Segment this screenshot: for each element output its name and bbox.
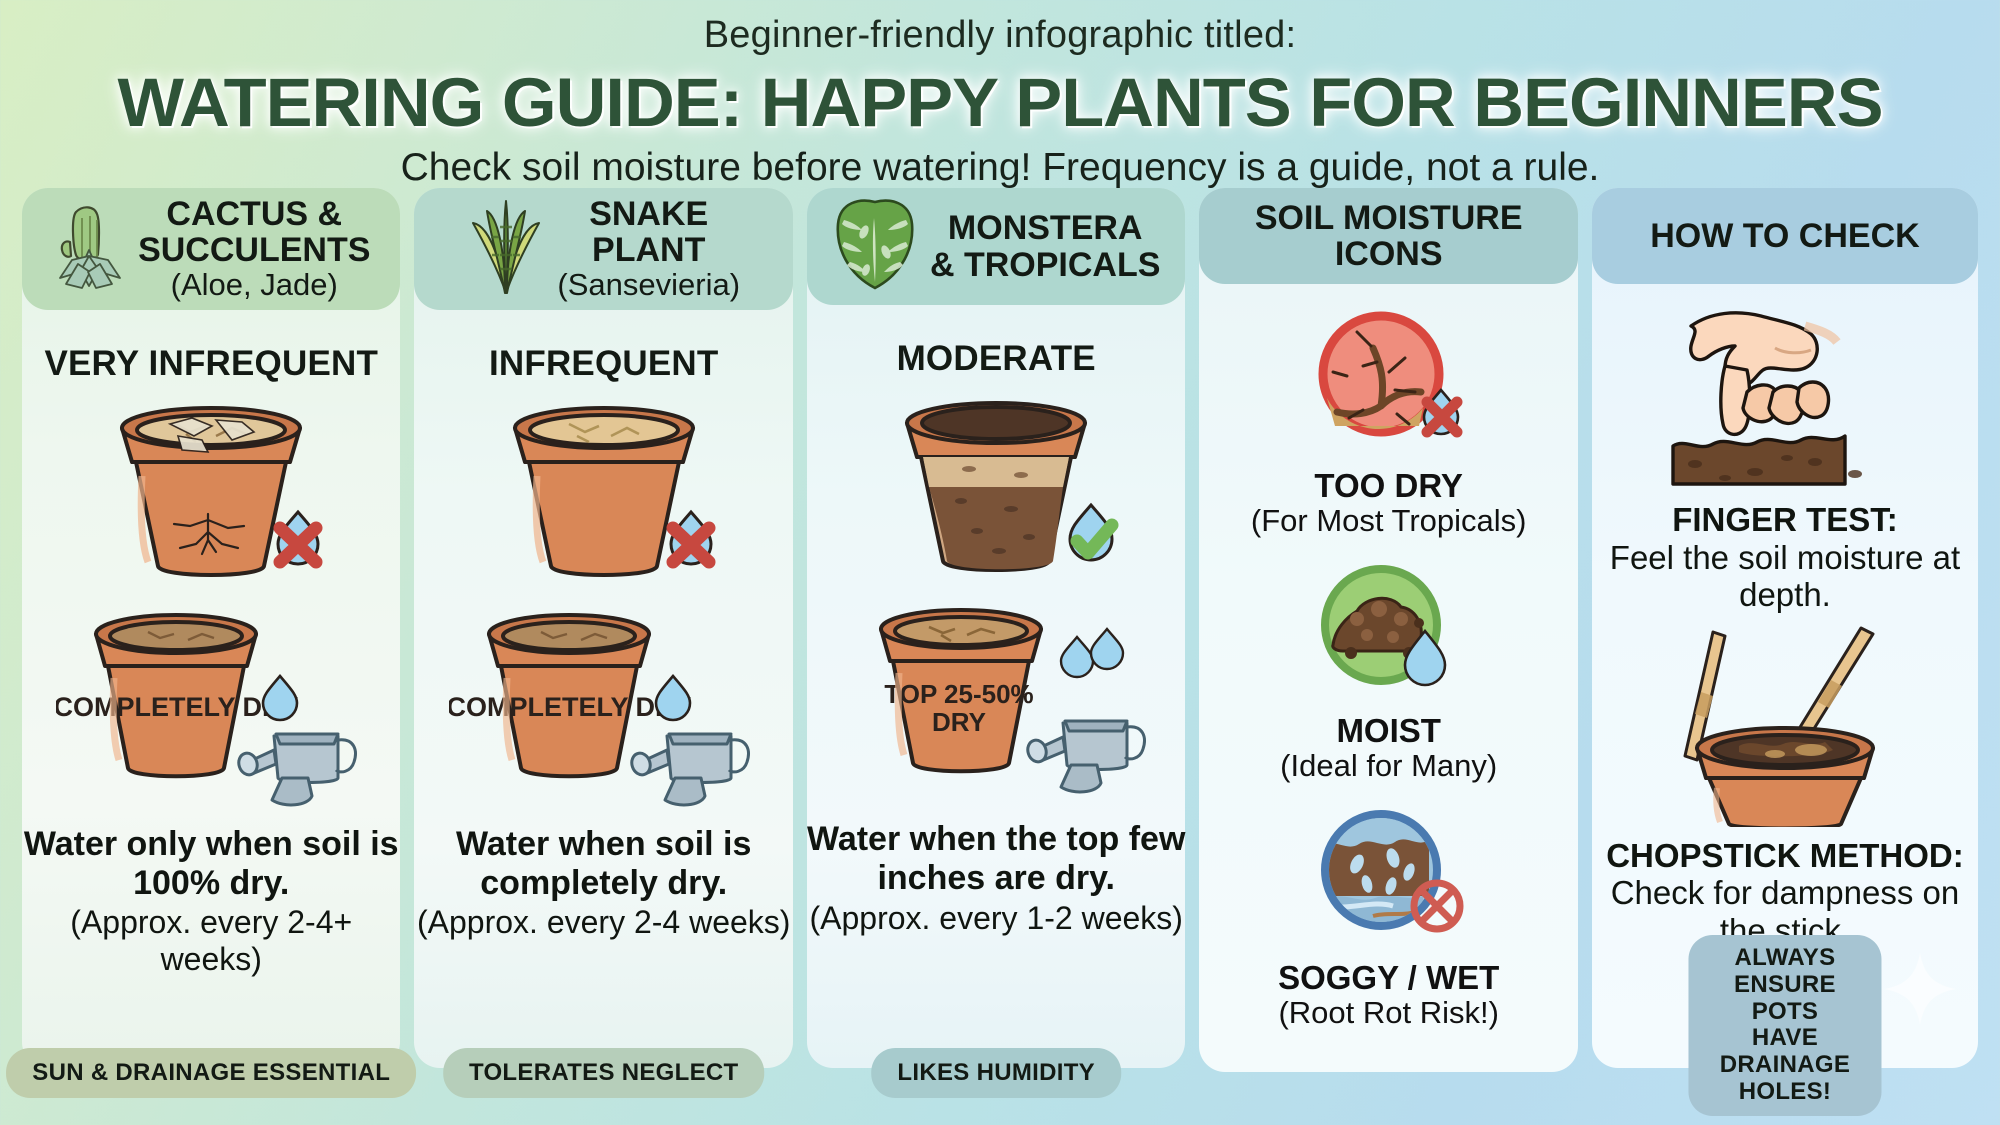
desc-approx: (Approx. every 1-2 weeks) (807, 900, 1185, 936)
pot-illustration-moist-layers (807, 391, 1185, 591)
card-title-line1: CACTUS & (166, 195, 342, 233)
card-header-text: SNAKE PLANT (Sansevieria) (557, 196, 740, 302)
card-title-line2: & TROPICALS (930, 246, 1160, 284)
watering-description: Water only when soil is 100% dry. (Appro… (22, 825, 400, 977)
card-soil-moisture-icons[interactable]: SOIL MOISTURE ICONS (1199, 188, 1577, 1072)
card-header-text: HOW TO CHECK (1650, 218, 1919, 254)
howto-title: FINGER TEST: (1592, 501, 1978, 539)
monstera-leaf-icon (832, 196, 918, 297)
moisture-label: MOIST (1336, 712, 1441, 750)
snake-plant-icon (467, 197, 545, 300)
pot-label-line2: DRY (932, 707, 986, 737)
card-header-soil-moisture: SOIL MOISTURE ICONS (1199, 188, 1577, 284)
watering-description: Water when soil is completely dry. (Appr… (414, 825, 792, 941)
moisture-item-too-dry: TOO DRY (For Most Tropicals) (1251, 306, 1527, 539)
card-header-text: MONSTERA & TROPICALS (930, 210, 1160, 282)
badge-line1: ALWAYS ENSURE POTS (1734, 944, 1836, 1025)
desc-text: Water when the top few inches are dry. (807, 820, 1185, 897)
card-header-how-to-check: HOW TO CHECK (1592, 188, 1978, 284)
card-title-line1: SNAKE (589, 195, 708, 233)
frequency-label: INFREQUENT (489, 344, 719, 384)
infographic-header: Beginner-friendly infographic titled: WA… (0, 0, 2000, 190)
card-title-line1: MONSTERA (948, 209, 1143, 247)
card-header-text: CACTUS & SUCCULENTS (Aloe, Jade) (138, 196, 370, 302)
desc-approx: (Approx. every 2-4+ weeks) (22, 904, 400, 977)
moisture-label: SOGGY / WET (1278, 959, 1499, 997)
pot-label-line1: TOP 25-50% (885, 679, 1034, 709)
sparkle-icon (1880, 949, 1960, 1034)
badge-sun-drainage: SUN & DRAINAGE ESSENTIAL (6, 1048, 416, 1098)
frequency-label: MODERATE (897, 339, 1096, 379)
howto-title: CHOPSTICK METHOD: (1592, 837, 1978, 875)
waterlogged-soil-icon (1305, 806, 1473, 953)
watering-description: Water when the top few inches are dry. (… (807, 820, 1185, 936)
cracked-dry-soil-icon (1305, 306, 1473, 461)
card-monstera-tropicals[interactable]: MONSTERA & TROPICALS MODERATE (807, 188, 1185, 1068)
howto-text-chopstick-method: CHOPSTICK METHOD: Check for dampness on … (1592, 837, 1978, 950)
desc-text: Water when soil is completely dry. (456, 825, 751, 902)
frequency-label: VERY INFREQUENT (44, 344, 378, 384)
desc-approx: (Approx. every 2-4 weeks) (414, 904, 792, 940)
card-title-line2: PLANT (592, 231, 705, 269)
card-header-snake-plant: SNAKE PLANT (Sansevieria) (414, 188, 792, 310)
pot-illustration-dry-cracked (22, 396, 400, 596)
pot-illustration-top-dry: TOP 25-50% DRY (807, 599, 1185, 804)
card-header-monstera: MONSTERA & TROPICALS (807, 188, 1185, 305)
subtitle-text: Check soil moisture before watering! Fre… (0, 146, 2000, 190)
moisture-item-soggy-wet: SOGGY / WET (Root Rot Risk!) (1278, 806, 1499, 1031)
cactus-succulent-icon (52, 198, 126, 299)
kicker-text: Beginner-friendly infographic titled: (0, 14, 2000, 57)
howto-body: Feel the soil moisture at depth. (1610, 539, 1960, 614)
moisture-sublabel: (For Most Tropicals) (1251, 503, 1527, 539)
card-title-sub: (Aloe, Jade) (138, 269, 370, 302)
moisture-item-moist: MOIST (Ideal for Many) (1280, 561, 1497, 784)
card-snake-plant[interactable]: SNAKE PLANT (Sansevieria) INFREQUENT (414, 188, 792, 1068)
moist-soil-mound-icon (1305, 561, 1473, 706)
badge-line2: HAVE DRAINAGE HOLES! (1720, 1024, 1850, 1105)
moisture-sublabel: (Root Rot Risk!) (1278, 995, 1498, 1031)
columns-container: CACTUS & SUCCULENTS (Aloe, Jade) VERY IN… (0, 188, 2000, 1068)
card-title-line2: SUCCULENTS (138, 231, 370, 269)
card-title-sub: (Sansevieria) (557, 269, 740, 302)
moisture-sublabel: (Ideal for Many) (1280, 748, 1497, 784)
chopsticks-in-pot-icon (1592, 622, 1978, 827)
badge-likes-humidity: LIKES HUMIDITY (871, 1048, 1121, 1098)
page-title: WATERING GUIDE: HAPPY PLANTS FOR BEGINNE… (0, 63, 2000, 142)
badge-tolerates-neglect: TOLERATES NEGLECT (443, 1048, 765, 1098)
pot-illustration-dry-sandy (414, 396, 792, 596)
card-title-line2: ICONS (1335, 235, 1443, 273)
pot-illustration-completely-dry: COMPLETELY DRY (414, 604, 792, 809)
card-how-to-check[interactable]: HOW TO CHECK (1592, 188, 1978, 1068)
badge-drainage-holes: ALWAYS ENSURE POTS HAVE DRAINAGE HOLES! (1688, 935, 1881, 1116)
pot-illustration-completely-dry: COMPLETELY DRY (22, 604, 400, 809)
moisture-label: TOO DRY (1314, 467, 1463, 505)
howto-text-finger-test: FINGER TEST: Feel the soil moisture at d… (1592, 501, 1978, 614)
card-header-cactus: CACTUS & SUCCULENTS (Aloe, Jade) (22, 188, 400, 310)
card-cactus-succulents[interactable]: CACTUS & SUCCULENTS (Aloe, Jade) VERY IN… (22, 188, 400, 1068)
desc-text: Water only when soil is 100% dry. (24, 825, 399, 902)
finger-in-soil-icon (1592, 296, 1978, 491)
card-header-text: SOIL MOISTURE ICONS (1255, 200, 1523, 272)
card-title-line1: SOIL MOISTURE (1255, 199, 1523, 237)
